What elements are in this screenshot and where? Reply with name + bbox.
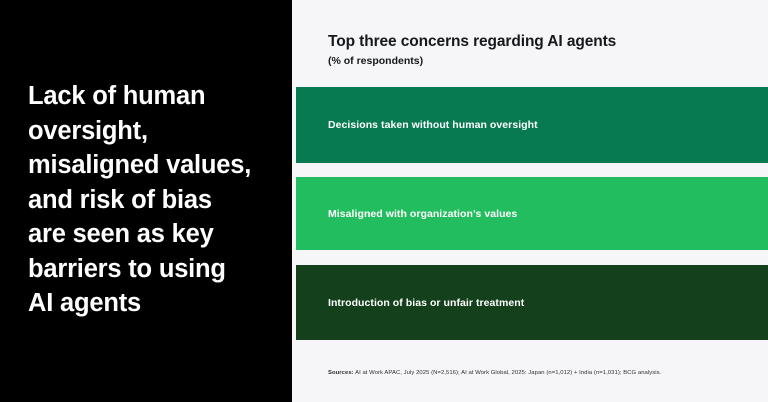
- slide-root: Lack of human oversight, misaligned valu…: [0, 0, 768, 402]
- bar-category-label: Introduction of bias or unfair treatment: [296, 297, 524, 309]
- chart-subtitle: (% of respondents): [328, 55, 423, 67]
- headline-panel: Lack of human oversight, misaligned valu…: [0, 0, 292, 402]
- bar-segment-2: Misaligned with organization’s values: [296, 177, 768, 250]
- bar-category-label: Decisions taken without human oversight: [296, 119, 538, 131]
- bar-row: Misaligned with organization’s values 35: [296, 177, 768, 250]
- bar-category-label: Misaligned with organization’s values: [296, 208, 517, 220]
- bar-segment-1: Decisions taken without human oversight: [296, 87, 768, 163]
- sources-footnote: Sources: AI at Work APAC, July 2025 (N=2…: [328, 370, 661, 376]
- bar-row: Decisions taken without human oversight …: [296, 87, 768, 163]
- slide-headline: Lack of human oversight, misaligned valu…: [28, 79, 278, 321]
- chart-panel: Top three concerns regarding AI agents (…: [292, 0, 768, 402]
- bar-segment-3: Introduction of bias or unfair treatment: [296, 265, 768, 340]
- chart-title: Top three concerns regarding AI agents: [328, 33, 616, 51]
- sources-label: Sources:: [328, 370, 354, 376]
- sources-text: AI at Work APAC, July 2025 (N=2,516); AI…: [354, 370, 662, 376]
- bar-row: Introduction of bias or unfair treatment…: [296, 265, 768, 340]
- bar-chart: Decisions taken without human oversight …: [296, 87, 768, 402]
